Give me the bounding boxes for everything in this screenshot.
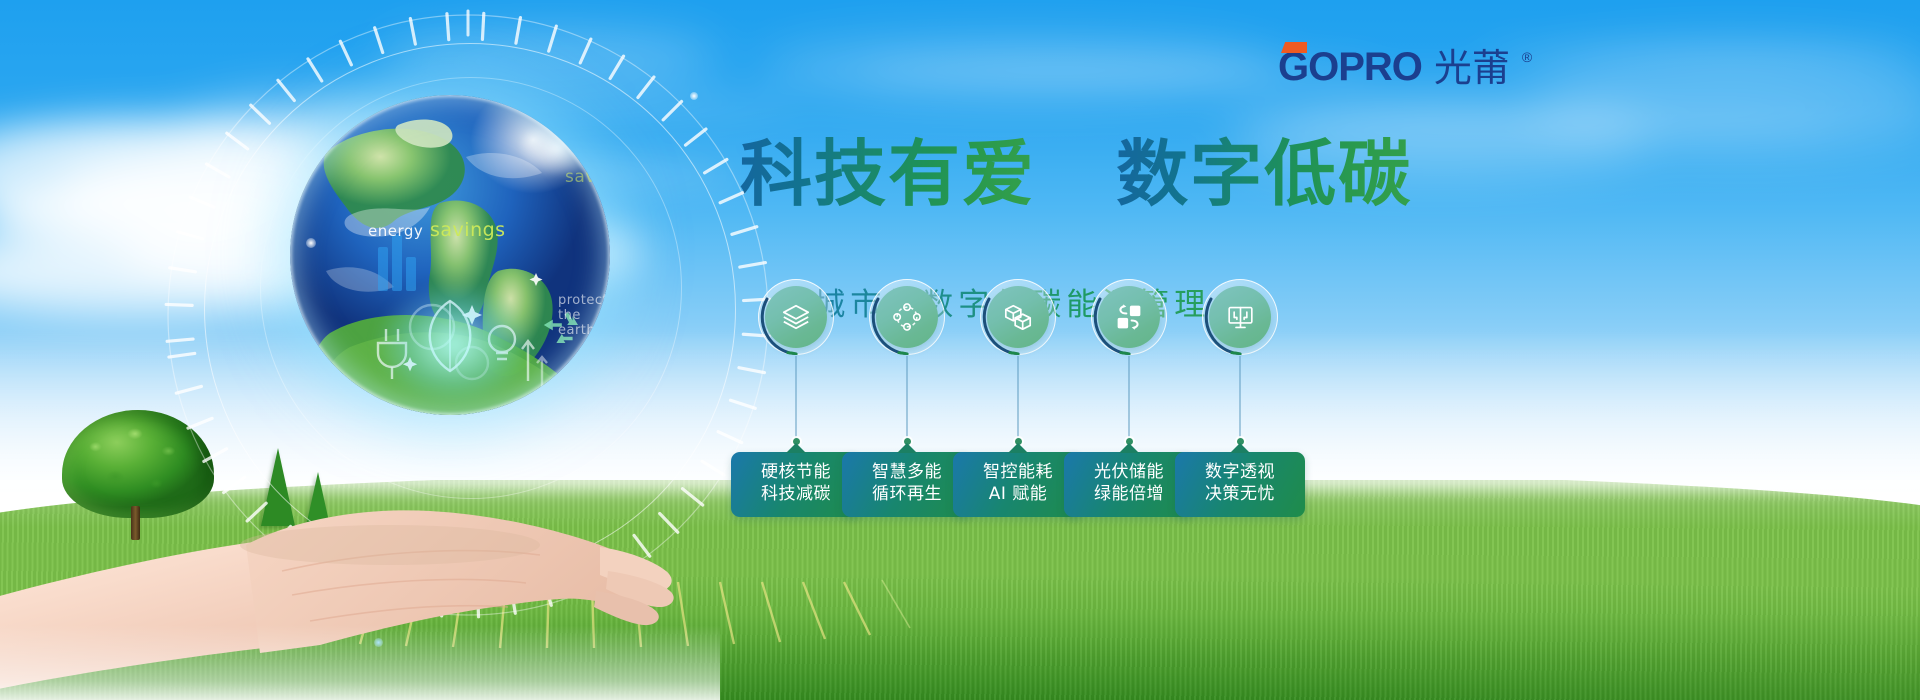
feature-badge-line2: 科技减碳 <box>743 483 849 505</box>
banner-root: energy savings savings protect the earth <box>0 0 1920 700</box>
feature-item-5[interactable]: 数字透视 决策无忧 <box>1184 286 1296 348</box>
feature-badge-line1: 硬核节能 <box>743 461 849 483</box>
feature-badge-5[interactable]: 数字透视 决策无忧 <box>1175 452 1305 517</box>
earth-sphere: energy savings savings protect the earth <box>290 95 610 415</box>
headline-part-1: 科技有爱 <box>740 132 1036 216</box>
feature-icon-wrap-1 <box>765 286 827 348</box>
feature-icon-wrap-5 <box>1209 286 1271 348</box>
feature-badge-line1: 光伏储能 <box>1076 461 1182 483</box>
feature-item-1[interactable]: 硬核节能 科技减碳 <box>740 286 852 348</box>
network-nodes-icon <box>892 302 922 332</box>
feature-badge-line2: 循环再生 <box>854 483 960 505</box>
feature-badge-line1: 数字透视 <box>1187 461 1293 483</box>
feature-badge-line1: 智控能耗 <box>965 461 1071 483</box>
oak-tree <box>62 410 222 542</box>
headline-part-2: 数字低碳 <box>1116 132 1412 216</box>
feature-badge-line2: 绿能倍增 <box>1076 483 1182 505</box>
earth-globe-graphic: energy savings savings protect the earth <box>290 95 640 445</box>
brand-logo[interactable]: GOPRO 光莆 ® <box>1278 47 1532 87</box>
registered-trademark-icon: ® <box>1522 49 1532 65</box>
monitor-chart-icon <box>1226 303 1255 332</box>
feature-item-2[interactable]: 智慧多能 循环再生 <box>851 286 963 348</box>
bokeh-dot <box>690 92 698 100</box>
feature-icon-wrap-3 <box>987 286 1049 348</box>
feature-badge-line2: 决策无忧 <box>1187 483 1293 505</box>
page-title: 科技有爱 科技有爱 数字低碳 数字低碳 <box>740 137 1412 213</box>
logo-orange-accent <box>1281 42 1307 53</box>
feature-badge-line1: 智慧多能 <box>854 461 960 483</box>
feature-badge-line2: AI 赋能 <box>965 483 1071 505</box>
feature-item-3[interactable]: 智控能耗 AI 赋能 <box>962 286 1074 348</box>
feature-item-4[interactable]: 光伏储能 绿能倍增 <box>1073 286 1185 348</box>
feature-list: 硬核节能 科技减碳 <box>740 286 1300 486</box>
cubes-icon <box>1003 302 1033 332</box>
exchange-icon <box>1115 303 1143 331</box>
feature-icon-wrap-4 <box>1098 286 1160 348</box>
logo-wordmark: GOPRO <box>1278 47 1422 87</box>
logo-chinese-name: 光莆 <box>1434 49 1510 87</box>
layers-icon <box>781 302 811 332</box>
feature-icon-wrap-2 <box>876 286 938 348</box>
